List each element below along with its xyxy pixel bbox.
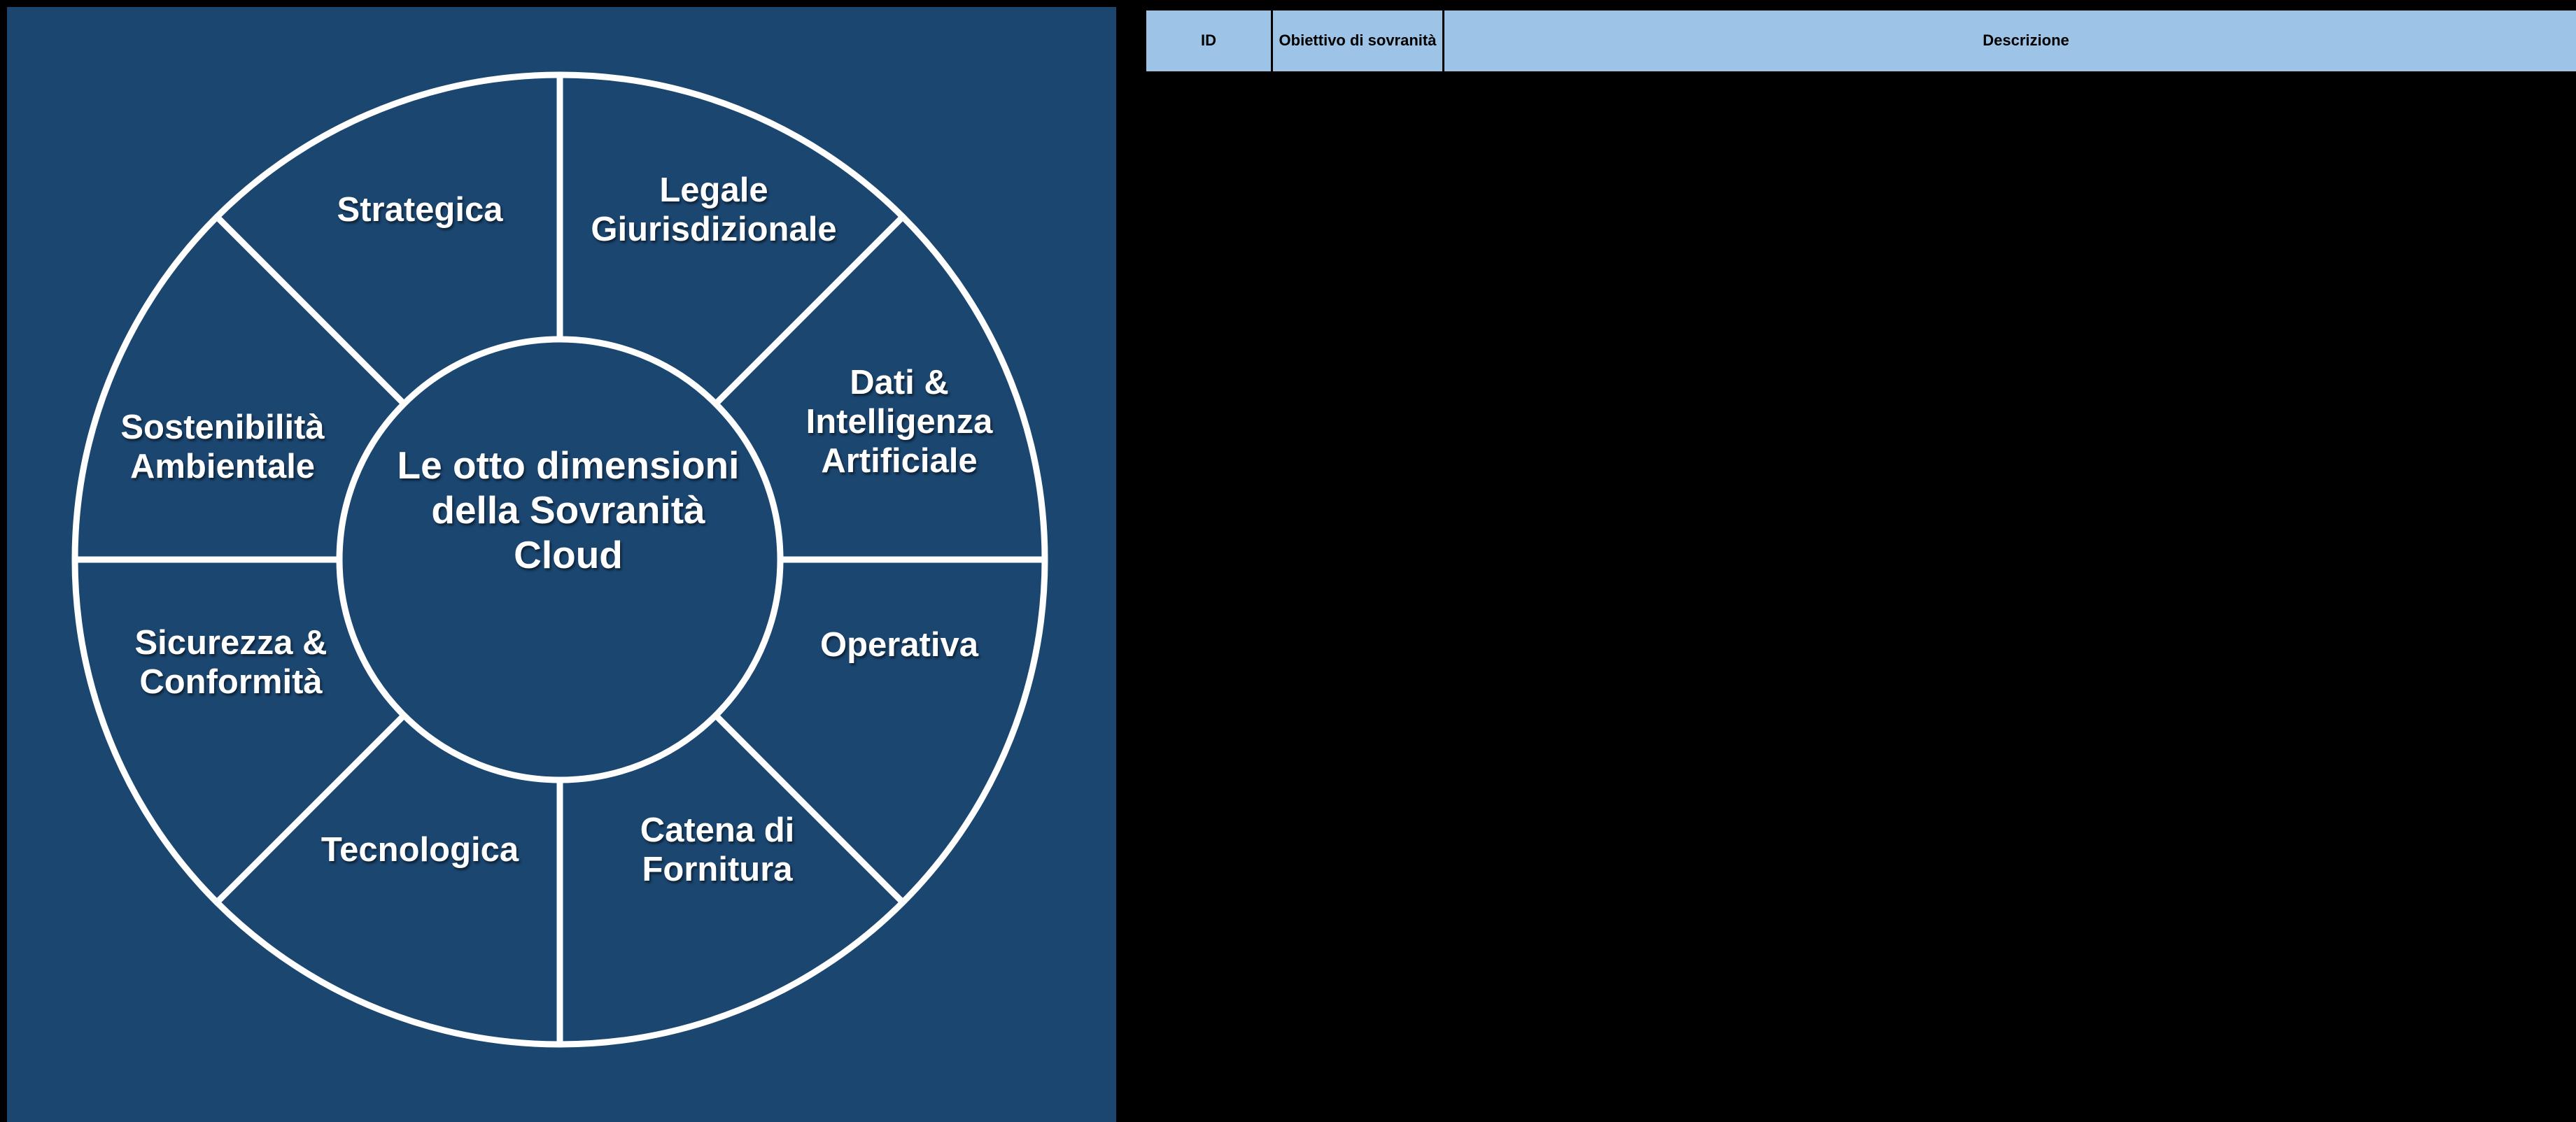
table-header-cell-obiettivo-di-sovranita: Obiettivo di sovranità (1272, 10, 1444, 73)
wheel-spoke-upper-left (217, 217, 404, 404)
sovereignty-objectives-table: ID Obiettivo di sovranità Descrizione (1144, 8, 2576, 73)
table-header-row: ID Obiettivo di sovranità Descrizione (1146, 10, 2576, 73)
wheel-spoke-lower-right (716, 716, 903, 902)
wheel-hub-circle (339, 339, 780, 780)
wheel-spoke-upper-right (716, 217, 903, 404)
sovereignty-wheel-panel: Strategica Legale Giurisdizionale Dati &… (7, 7, 1116, 1122)
table-header-cell-descrizione: Descrizione (1444, 10, 2576, 73)
table-header-cell-id: ID (1146, 10, 1272, 73)
wheel-spoke-lower-left (217, 716, 404, 902)
sovereignty-wheel-graphic (7, 7, 1116, 1122)
table-header: ID Obiettivo di sovranità Descrizione (1146, 10, 2576, 73)
